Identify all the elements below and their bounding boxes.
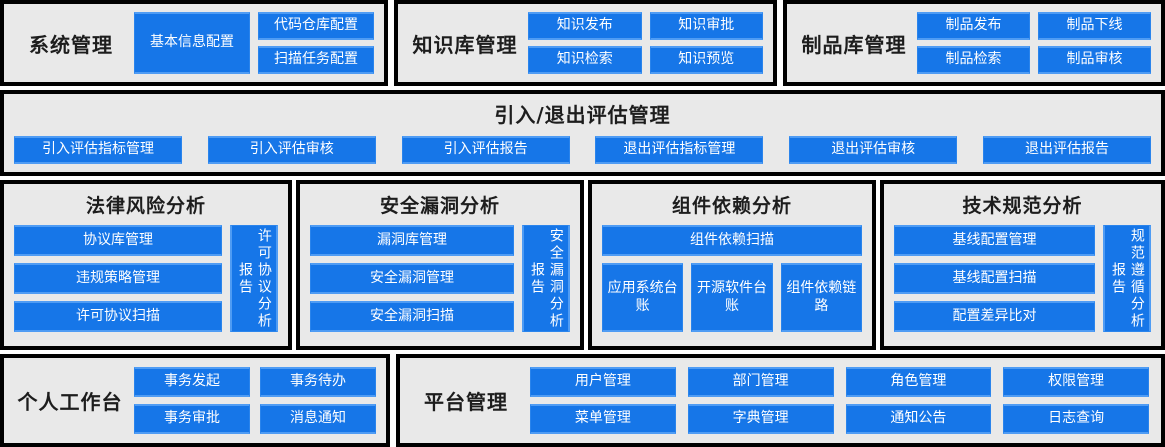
personal-workbench-button-grid: 事务发起 事务待办 事务审批 消息通知 bbox=[130, 358, 386, 443]
panel-title-personal-workbench: 个人工作台 bbox=[10, 386, 130, 415]
panel-title-legal-risk-analysis: 法律风险分析 bbox=[4, 184, 288, 218]
system-management-button-grid: 基本信息配置 代码仓库配置 扫描任务配置 bbox=[130, 4, 384, 82]
button-violation-policy-management[interactable]: 违规策略管理 bbox=[14, 263, 222, 294]
button-security-vulnerability-scan[interactable]: 安全漏洞扫描 bbox=[310, 301, 514, 332]
button-menu-management[interactable]: 菜单管理 bbox=[530, 404, 676, 434]
button-baseline-config-scan[interactable]: 基线配置扫描 bbox=[894, 263, 1095, 294]
panel-artifact-repository-management: 制品库管理 制品发布 制品下线 制品检索 制品审核 bbox=[783, 0, 1165, 86]
button-intro-assessment-report[interactable]: 引入评估报告 bbox=[402, 136, 570, 164]
dependency-body: 组件依赖扫描 应用系统台账 开源软件台账 组件依赖链路 bbox=[592, 218, 872, 342]
panel-personal-workbench: 个人工作台 事务发起 事务待办 事务审批 消息通知 bbox=[0, 354, 390, 447]
panel-introduction-exit-assessment: 引入/退出评估管理 引入评估指标管理 引入评估审核 引入评估报告 退出评估指标管… bbox=[0, 90, 1165, 176]
button-role-management[interactable]: 角色管理 bbox=[846, 367, 992, 397]
button-intro-assessment-indicator-management[interactable]: 引入评估指标管理 bbox=[14, 136, 182, 164]
button-exit-assessment-review[interactable]: 退出评估审核 bbox=[789, 136, 957, 164]
panel-platform-management: 平台管理 用户管理 部门管理 角色管理 权限管理 菜单管理 字典管理 通知公告 … bbox=[396, 354, 1165, 447]
panel-title-technical-specification-analysis: 技术规范分析 bbox=[884, 184, 1161, 218]
button-task-initiate[interactable]: 事务发起 bbox=[134, 367, 250, 397]
button-open-source-software-ledger[interactable]: 开源软件台账 bbox=[691, 263, 772, 332]
button-scan-task-config[interactable]: 扫描任务配置 bbox=[258, 46, 374, 74]
button-license-library-management[interactable]: 协议库管理 bbox=[14, 225, 222, 256]
button-baseline-config-management[interactable]: 基线配置管理 bbox=[894, 225, 1095, 256]
button-message-notification[interactable]: 消息通知 bbox=[260, 404, 376, 434]
dependency-button-row: 应用系统台账 开源软件台账 组件依赖链路 bbox=[602, 263, 862, 332]
legal-risk-button-stack: 协议库管理 违规策略管理 许可协议扫描 bbox=[14, 225, 222, 332]
button-license-agreement-scan[interactable]: 许可协议扫描 bbox=[14, 301, 222, 332]
button-knowledge-search[interactable]: 知识检索 bbox=[528, 46, 642, 74]
panel-title-knowledge-base-management: 知识库管理 bbox=[406, 29, 524, 58]
button-artifact-offline[interactable]: 制品下线 bbox=[1038, 12, 1151, 40]
button-artifact-review[interactable]: 制品审核 bbox=[1038, 46, 1151, 74]
button-security-vulnerability-management[interactable]: 安全漏洞管理 bbox=[310, 263, 514, 294]
specification-button-stack: 基线配置管理 基线配置扫描 配置差异比对 bbox=[894, 225, 1095, 332]
button-user-management[interactable]: 用户管理 bbox=[530, 367, 676, 397]
legal-risk-body: 协议库管理 违规策略管理 许可协议扫描 许可协议分析报告 bbox=[4, 218, 288, 342]
button-notification-announcement[interactable]: 通知公告 bbox=[846, 404, 992, 434]
panel-title-component-dependency-analysis: 组件依赖分析 bbox=[592, 184, 872, 218]
panel-legal-risk-analysis: 法律风险分析 协议库管理 违规策略管理 许可协议扫描 许可协议分析报告 bbox=[0, 180, 292, 350]
button-specification-compliance-report[interactable]: 规范遵循分析报告 bbox=[1103, 225, 1151, 332]
button-task-todo[interactable]: 事务待办 bbox=[260, 367, 376, 397]
architecture-diagram: 系统管理 基本信息配置 代码仓库配置 扫描任务配置 知识库管理 知识发布 知识审… bbox=[0, 0, 1165, 447]
assessment-button-row: 引入评估指标管理 引入评估审核 引入评估报告 退出评估指标管理 退出评估审核 退… bbox=[4, 128, 1161, 164]
panel-title-introduction-exit-assessment: 引入/退出评估管理 bbox=[4, 94, 1161, 128]
panel-title-artifact-repository-management: 制品库管理 bbox=[795, 29, 913, 58]
button-config-difference-comparison[interactable]: 配置差异比对 bbox=[894, 301, 1095, 332]
button-component-dependency-scan[interactable]: 组件依赖扫描 bbox=[602, 225, 862, 256]
panel-title-system-management: 系统管理 bbox=[12, 29, 130, 58]
vulnerability-body: 漏洞库管理 安全漏洞管理 安全漏洞扫描 安全漏洞分析报告 bbox=[300, 218, 580, 342]
button-vulnerability-library-management[interactable]: 漏洞库管理 bbox=[310, 225, 514, 256]
button-department-management[interactable]: 部门管理 bbox=[688, 367, 834, 397]
button-application-system-ledger[interactable]: 应用系统台账 bbox=[602, 263, 683, 332]
panel-system-management: 系统管理 基本信息配置 代码仓库配置 扫描任务配置 bbox=[0, 0, 388, 86]
specification-body: 基线配置管理 基线配置扫描 配置差异比对 规范遵循分析报告 bbox=[884, 218, 1161, 342]
button-artifact-publish[interactable]: 制品发布 bbox=[917, 12, 1030, 40]
button-dictionary-management[interactable]: 字典管理 bbox=[688, 404, 834, 434]
button-code-repo-config[interactable]: 代码仓库配置 bbox=[258, 12, 374, 40]
button-log-query[interactable]: 日志查询 bbox=[1003, 404, 1149, 434]
button-vulnerability-analysis-report[interactable]: 安全漏洞分析报告 bbox=[522, 225, 570, 332]
artifact-repository-button-grid: 制品发布 制品下线 制品检索 制品审核 bbox=[913, 4, 1161, 82]
panel-technical-specification-analysis: 技术规范分析 基线配置管理 基线配置扫描 配置差异比对 规范遵循分析报告 bbox=[880, 180, 1165, 350]
button-permission-management[interactable]: 权限管理 bbox=[1003, 367, 1149, 397]
button-exit-assessment-report[interactable]: 退出评估报告 bbox=[983, 136, 1151, 164]
button-knowledge-approval[interactable]: 知识审批 bbox=[650, 12, 764, 40]
button-knowledge-publish[interactable]: 知识发布 bbox=[528, 12, 642, 40]
knowledge-base-button-grid: 知识发布 知识审批 知识检索 知识预览 bbox=[524, 4, 773, 82]
panel-security-vulnerability-analysis: 安全漏洞分析 漏洞库管理 安全漏洞管理 安全漏洞扫描 安全漏洞分析报告 bbox=[296, 180, 584, 350]
platform-management-button-grid: 用户管理 部门管理 角色管理 权限管理 菜单管理 字典管理 通知公告 日志查询 bbox=[526, 358, 1161, 443]
panel-component-dependency-analysis: 组件依赖分析 组件依赖扫描 应用系统台账 开源软件台账 组件依赖链路 bbox=[588, 180, 876, 350]
panel-knowledge-base-management: 知识库管理 知识发布 知识审批 知识检索 知识预览 bbox=[394, 0, 777, 86]
button-basic-info-config[interactable]: 基本信息配置 bbox=[134, 12, 250, 74]
button-task-approval[interactable]: 事务审批 bbox=[134, 404, 250, 434]
button-artifact-search[interactable]: 制品检索 bbox=[917, 46, 1030, 74]
button-license-analysis-report[interactable]: 许可协议分析报告 bbox=[230, 225, 278, 332]
vulnerability-button-stack: 漏洞库管理 安全漏洞管理 安全漏洞扫描 bbox=[310, 225, 514, 332]
button-knowledge-preview[interactable]: 知识预览 bbox=[650, 46, 764, 74]
button-intro-assessment-review[interactable]: 引入评估审核 bbox=[208, 136, 376, 164]
panel-title-platform-management: 平台管理 bbox=[406, 386, 526, 415]
panel-title-security-vulnerability-analysis: 安全漏洞分析 bbox=[300, 184, 580, 218]
button-component-dependency-chain[interactable]: 组件依赖链路 bbox=[781, 263, 862, 332]
button-exit-assessment-indicator-management[interactable]: 退出评估指标管理 bbox=[595, 136, 763, 164]
